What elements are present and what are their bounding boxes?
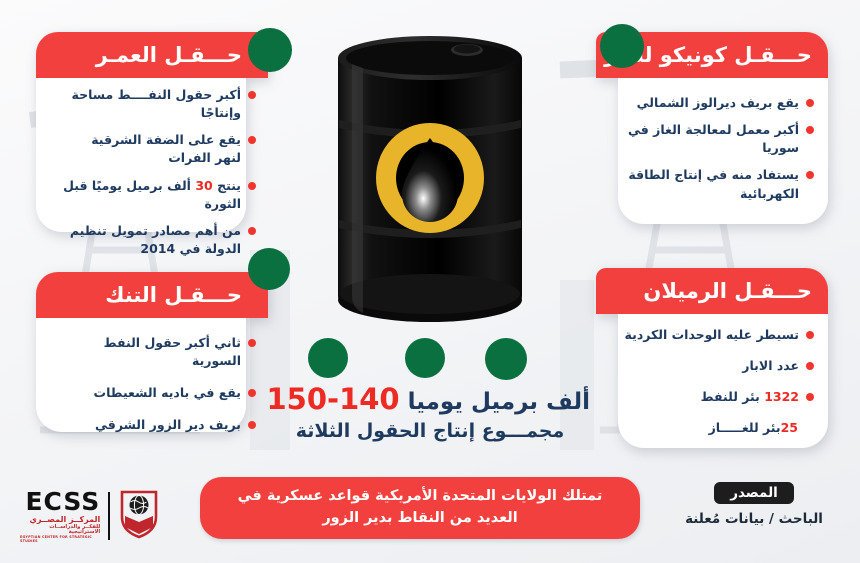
bullet-text: أكبر معمل لمعالجة الغاز في سوريا <box>622 121 799 157</box>
bullet-text: ثاني أكبر حقول النفط السورية <box>62 334 241 370</box>
source-block: المصدر الباحث / بيانات مُعلنة <box>664 482 844 527</box>
bullet-text: يقع بريف ديرالوز الشمالي <box>622 94 799 112</box>
list-item: أكبر معمل لمعالجة الغاز في سوريا <box>622 121 814 157</box>
list-item: بريف دير الزور الشرقي <box>62 416 256 434</box>
bullet-dot-icon <box>248 91 256 99</box>
list-item: أكبر حقول النفــــط مساحة وإنتاجًا <box>62 86 256 122</box>
ecss-logo: ECSS المركــز المصــري للفكــر والدراســ… <box>20 490 160 542</box>
green-dot-icon <box>248 28 292 72</box>
bullet-text: من أهم مصادر تمويل تنظيم الدولة في 2014 <box>62 222 241 258</box>
bullet-dot-icon <box>806 362 814 370</box>
bullet-dot-icon <box>248 339 256 347</box>
bullet-dot-icon <box>248 421 256 429</box>
bullet-dot-icon <box>248 389 256 397</box>
source-label-badge: المصدر <box>714 482 794 504</box>
green-dot-icon <box>308 338 348 378</box>
bullet-highlight: 30 <box>195 178 212 193</box>
list-item: تسيطر عليه الوحدات الكردية <box>622 326 814 344</box>
green-dot-icon <box>405 338 445 378</box>
list-item: يقع على الضفة الشرقية لنهر الفرات <box>62 131 256 167</box>
green-dot-icon <box>600 24 644 68</box>
source-value: الباحث / بيانات مُعلنة <box>664 511 844 527</box>
bottom-banner: تمتلك الولايات المتحدة الأمريكية قواعد ع… <box>200 477 640 539</box>
bullet-dot-icon <box>248 136 256 144</box>
logo-abbrev: ECSS <box>20 489 100 514</box>
bullet-text: أكبر حقول النفــــط مساحة وإنتاجًا <box>62 86 241 122</box>
card-bullet-list: أكبر حقول النفــــط مساحة وإنتاجًا يقع ع… <box>36 82 268 275</box>
summary-line-1: ألف برميل يوميا 140-150 <box>270 382 590 416</box>
green-dot-icon <box>485 338 527 380</box>
bullet-dot-icon <box>248 227 256 235</box>
logo-arabic-name: المركــز المصــري <box>20 516 100 524</box>
list-item: ثاني أكبر حقول النفط السورية <box>62 334 256 370</box>
bullet-text: يستفاد منه في إنتاج الطاقة الكهربائية <box>622 166 799 202</box>
bullet-text: عدد الابار <box>622 357 799 375</box>
list-item: يقع في باديه الشعيطات <box>62 384 256 402</box>
card-al-tank-field: حـــقـل التنك ثاني أكبر حقول النفط السور… <box>36 272 268 432</box>
card-al-omar-field: حـــقـل العمـر أكبر حقول النفــــط مساحة… <box>36 32 268 232</box>
list-item: من أهم مصادر تمويل تنظيم الدولة في 2014 <box>62 222 256 258</box>
summary-line-2: مجمـــوع إنتاج الحقول الثلاثة <box>270 420 590 442</box>
green-dot-icon <box>248 248 290 290</box>
bullet-dot-icon <box>806 331 814 339</box>
bullet-text: 1322 بئر للنفط <box>622 388 799 406</box>
logo-wordmark: ECSS المركــز المصــري للفكــر والدراســ… <box>20 489 100 543</box>
bullet-text: تسيطر عليه الوحدات الكردية <box>622 326 799 344</box>
bullet-text: يقع في باديه الشعيطات <box>62 384 241 402</box>
card-title: حـــقـل العمـر <box>36 32 268 78</box>
list-item: 25بئر للغـــــاز <box>622 419 814 437</box>
list-item: يقع بريف ديرالوز الشمالي <box>622 94 814 112</box>
bullet-text: ينتج 30 ألف برميل يوميًا قبل الثورة <box>62 177 241 213</box>
bullet-highlight: 25 <box>781 420 798 435</box>
logo-arabic-sub: للفكــر والدراســات الاستراتيجية <box>20 525 100 536</box>
card-title: حـــقـل التنك <box>36 272 268 318</box>
card-al-rumailan-field: حـــقـل الرميلان تسيطر عليه الوحدات الكر… <box>596 268 828 448</box>
list-item: عدد الابار <box>622 357 814 375</box>
bullet-text: يقع على الضفة الشرقية لنهر الفرات <box>62 131 241 167</box>
shield-logo-icon <box>118 489 160 543</box>
list-item: 1322 بئر للنفط <box>622 388 814 406</box>
card-bullet-list: يقع بريف ديرالوز الشمالي أكبر معمل لمعال… <box>596 90 828 220</box>
bullet-dot-icon <box>806 171 814 179</box>
card-title: حـــقـل الرميلان <box>596 268 828 314</box>
logo-divider <box>108 492 110 540</box>
banner-text: تمتلك الولايات المتحدة الأمريكية قواعد ع… <box>218 486 622 530</box>
summary-unit-label: ألف برميل يوميا <box>408 389 590 415</box>
bullet-text: 25بئر للغـــــاز <box>622 419 798 437</box>
list-item: يستفاد منه في إنتاج الطاقة الكهربائية <box>622 166 814 202</box>
bullet-text: بريف دير الزور الشرقي <box>62 416 241 434</box>
bullet-dot-icon <box>806 126 814 134</box>
card-bullet-list: تسيطر عليه الوحدات الكردية عدد الابار 13… <box>596 322 828 455</box>
summary-number: 140-150 <box>266 382 399 416</box>
logo-english-sub: EGYPTIAN CENTER FOR STRATEGIC STUDIES <box>20 536 100 543</box>
bullet-highlight: 1322 <box>764 389 799 404</box>
list-item: ينتج 30 ألف برميل يوميًا قبل الثورة <box>62 177 256 213</box>
infographic-canvas: حـــقـل العمـر أكبر حقول النفــــط مساحة… <box>0 0 860 563</box>
oil-barrel-icon <box>330 28 530 343</box>
summary-block: ألف برميل يوميا 140-150 مجمـــوع إنتاج ا… <box>270 382 590 442</box>
card-bullet-list: ثاني أكبر حقول النفط السورية يقع في بادي… <box>36 330 268 452</box>
bullet-dot-icon <box>806 393 814 401</box>
bullet-dot-icon <box>248 182 256 190</box>
bullet-dot-icon <box>806 99 814 107</box>
